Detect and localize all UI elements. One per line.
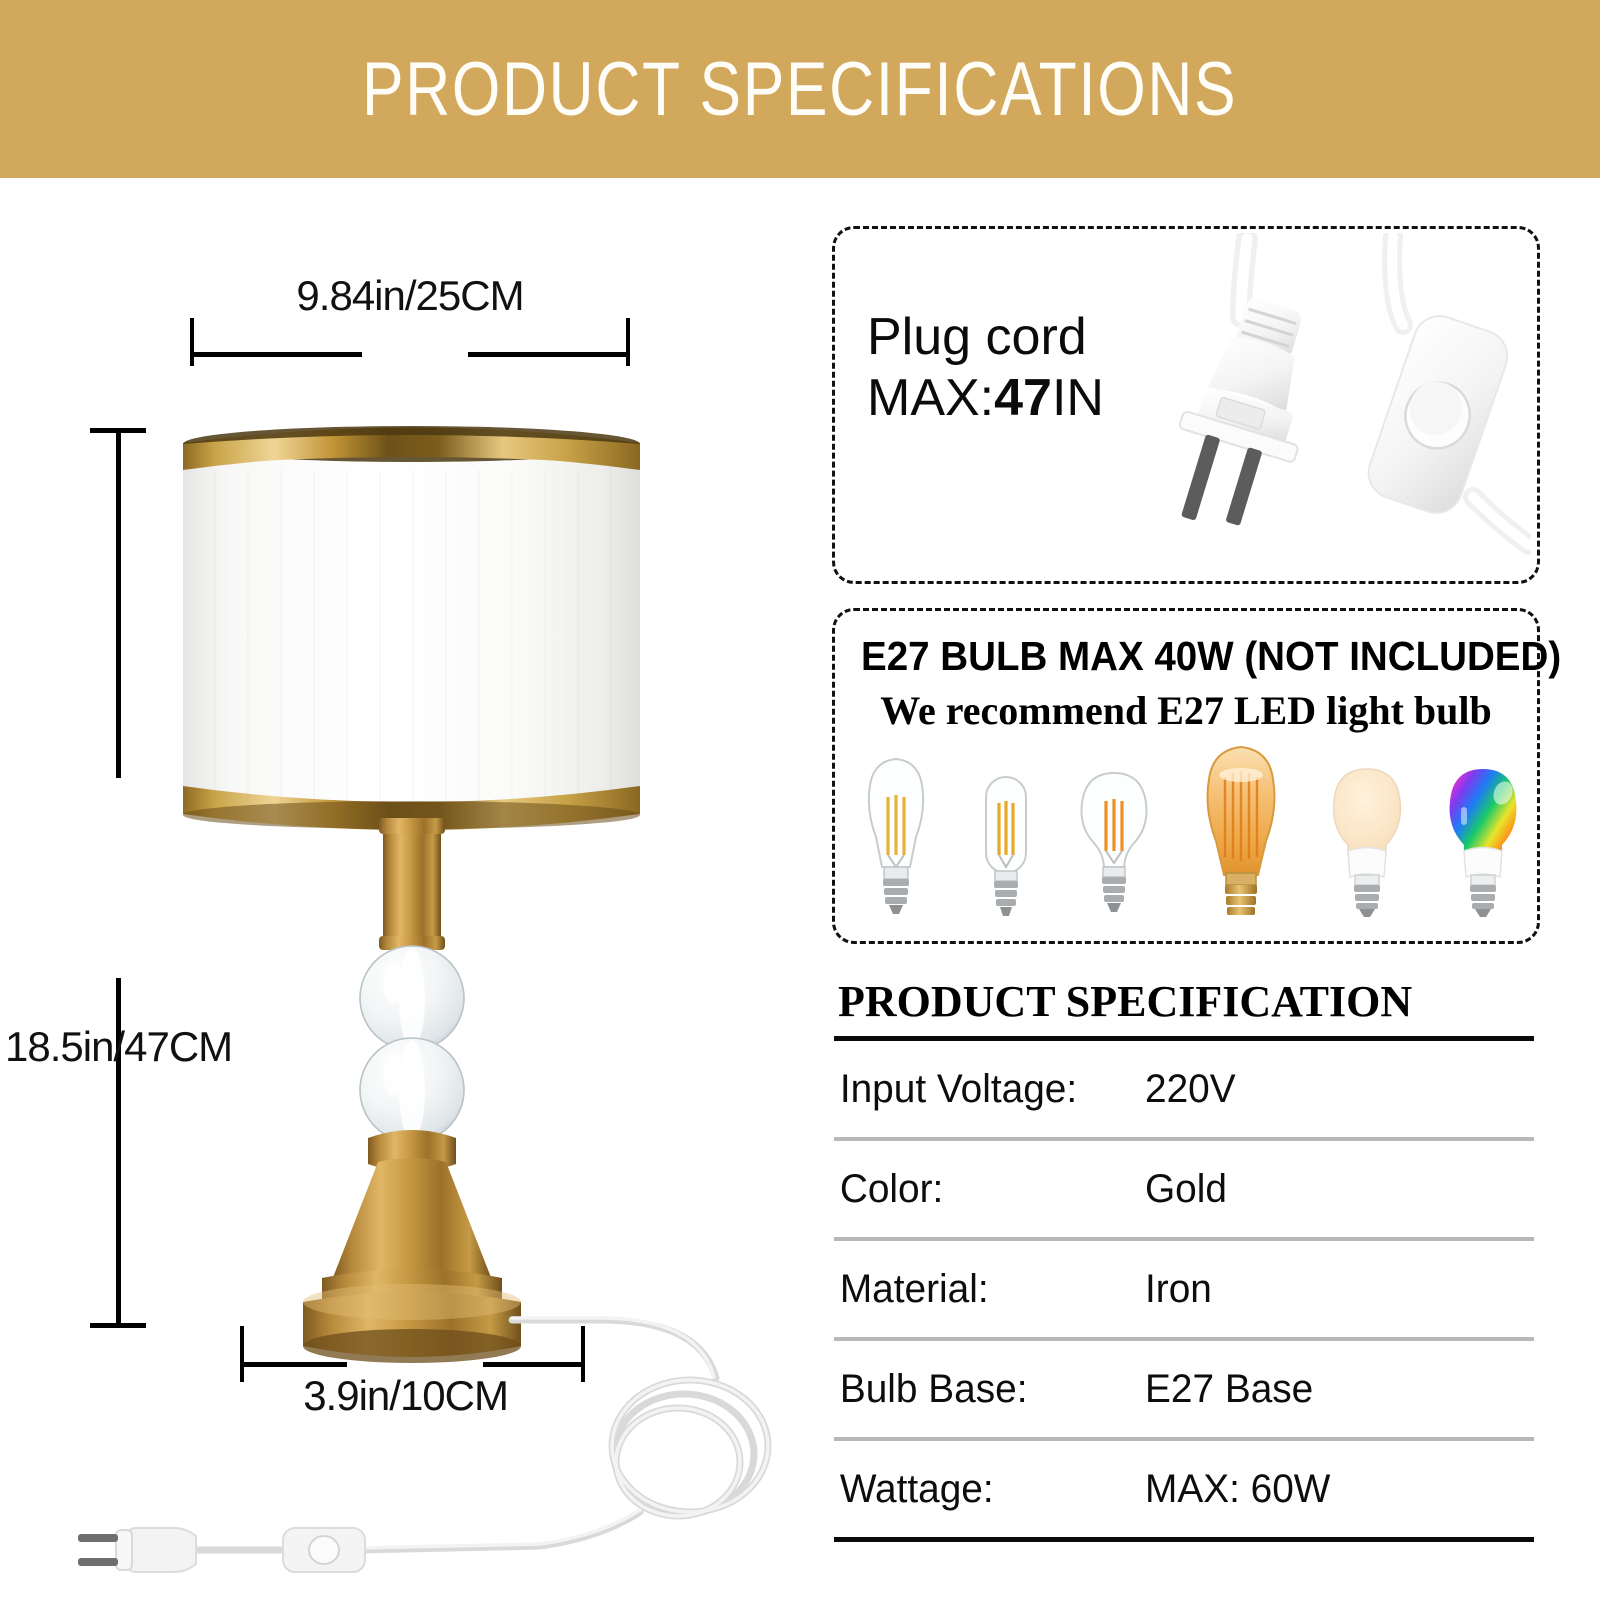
spec-value-input-voltage: 220V: [1145, 1067, 1236, 1112]
base-dim-left-cap: [240, 1326, 244, 1382]
base-width-label: 3.9in/10CM: [303, 1372, 508, 1420]
width-dim-left-cap: [190, 318, 194, 366]
bulb-heading: E27 BULB MAX 40W (NOT INCLUDED): [861, 633, 1472, 680]
width-dim-right-cap: [626, 318, 630, 366]
base-dim-line-left: [242, 1362, 347, 1367]
st64-filament-bulb-icon: [853, 751, 939, 921]
width-dim-line-left: [192, 352, 362, 357]
spec-key-bulb-base: Bulb Base:: [834, 1367, 1136, 1412]
total-height-label: 18.5in/47CM: [5, 1023, 232, 1071]
spec-key-input-voltage: Input Voltage:: [834, 1067, 1136, 1112]
width-dim-line-right: [468, 352, 628, 357]
product-specification-table: PRODUCT SPECIFICATION Input Voltage: 220…: [834, 978, 1534, 1542]
plug-cord-max-prefix: MAX:: [867, 369, 994, 427]
bulb-recommendation-box: E27 BULB MAX 40W (NOT INCLUDED) We recom…: [832, 608, 1540, 944]
spec-key-wattage: Wattage:: [834, 1467, 1136, 1512]
plug-cord-photo: [1135, 233, 1531, 577]
a19-clear-filament-bulb-icon: [1072, 751, 1156, 921]
cord-switch-illustration: [283, 1528, 365, 1572]
table-row: Bulb Base: E27 Base: [834, 1341, 1534, 1437]
height-dim-line-top: [116, 430, 121, 778]
spec-value-bulb-base: E27 Base: [1145, 1367, 1313, 1412]
shade-width-label: 9.84in/25CM: [296, 272, 523, 320]
plug-cord-box: Plug cord MAX:47IN: [832, 226, 1540, 584]
product-specification-infographic: PRODUCT SPECIFICATIONS: [0, 0, 1600, 1600]
cord-plug-illustration: [78, 1528, 196, 1572]
bulb-type-row: [853, 741, 1525, 921]
total-height-dimension: [90, 428, 150, 1328]
bulb-subheading: We recommend E27 LED light bulb: [835, 687, 1537, 734]
header-banner: PRODUCT SPECIFICATIONS: [0, 0, 1600, 178]
frosted-warm-white-bulb-icon: [1325, 751, 1409, 921]
page-title: PRODUCT SPECIFICATIONS: [362, 46, 1237, 133]
spec-value-material: Iron: [1145, 1267, 1212, 1312]
base-width-dimension: 3.9in/10CM: [240, 1326, 585, 1396]
shade-width-dimension: 9.84in/25CM: [190, 318, 630, 378]
vintage-amber-st64-bulb-icon: [1188, 741, 1294, 921]
table-row: Color: Gold: [834, 1141, 1534, 1237]
spec-value-color: Gold: [1145, 1167, 1227, 1212]
table-row: Material: Iron: [834, 1241, 1534, 1337]
base-dim-right-cap: [581, 1326, 585, 1382]
spec-table-bottom-rule: [834, 1537, 1534, 1542]
right-panel: Plug cord MAX:47IN: [824, 178, 1600, 1600]
spec-table-title: PRODUCT SPECIFICATION: [834, 978, 1534, 1026]
rgb-smart-bulb-icon: [1441, 751, 1525, 921]
table-row: Wattage: MAX: 60W: [834, 1441, 1534, 1537]
spec-key-color: Color:: [834, 1167, 1136, 1212]
spec-value-wattage: MAX: 60W: [1145, 1467, 1330, 1512]
plug-cord-max-value: 47: [994, 369, 1052, 427]
spec-key-material: Material:: [834, 1267, 1136, 1312]
table-row: Input Voltage: 220V: [834, 1041, 1534, 1137]
plug-cord-max-unit: IN: [1052, 369, 1104, 427]
base-dim-line-right: [483, 1362, 583, 1367]
lamp-diagram-panel: 9.84in/25CM 18.5in/47CM 3.9in/10CM: [0, 178, 820, 1600]
t45-tubular-filament-bulb-icon: [971, 751, 1041, 921]
